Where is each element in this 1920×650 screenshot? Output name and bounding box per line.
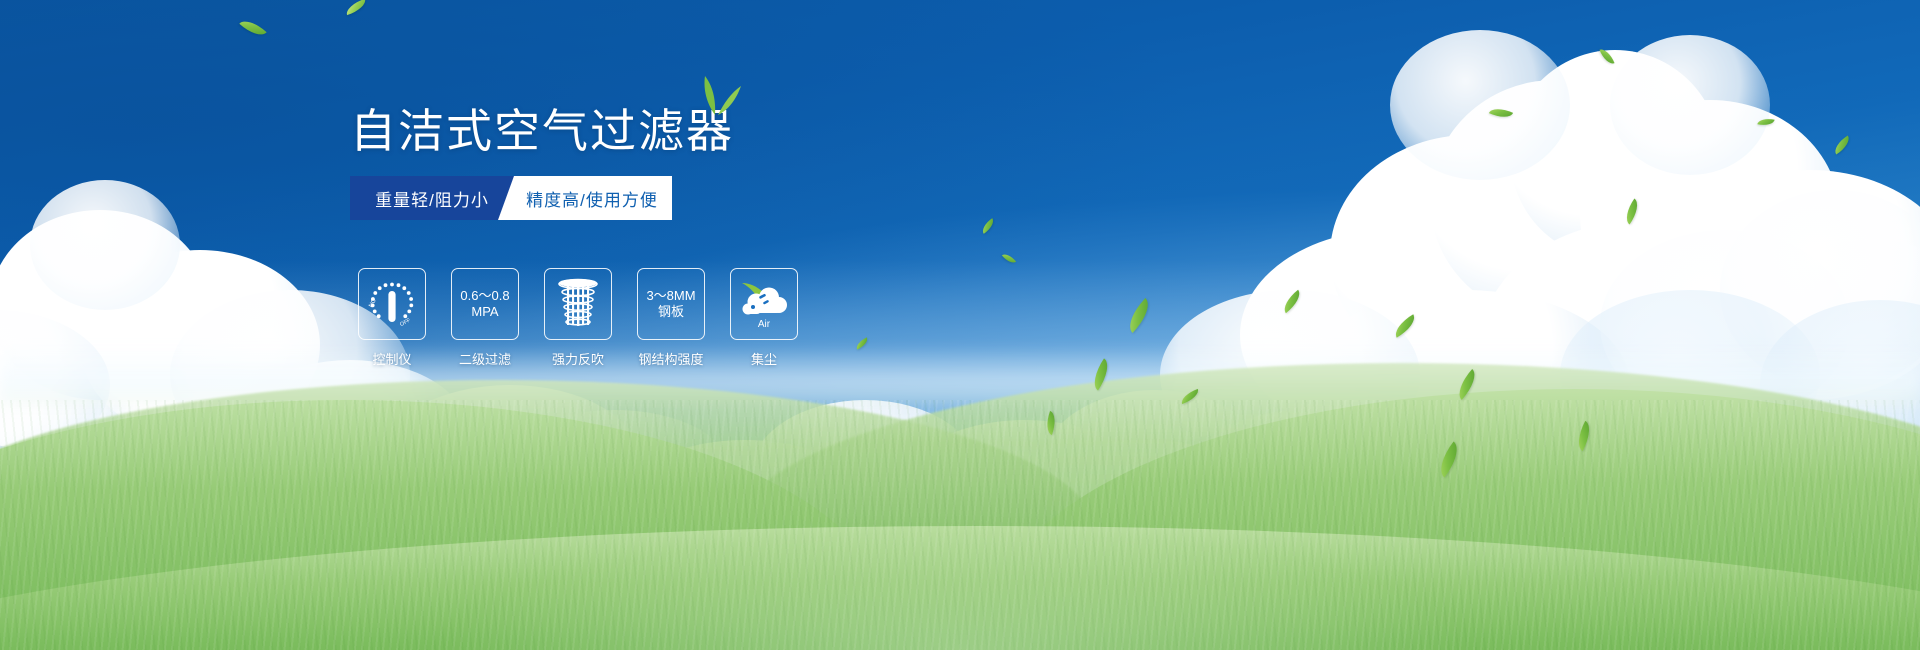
- feature-box: 0.6～0.8 MPA: [451, 268, 519, 340]
- steel-plate-text-icon: 3～8MM 钢板: [646, 288, 695, 320]
- pressure-value-line2: MPA: [460, 304, 509, 320]
- feature-box: NO OFF: [358, 268, 426, 340]
- feature-caption: 控制仪: [372, 349, 411, 368]
- feature-caption: 二级过滤: [459, 349, 511, 368]
- svg-text:NO: NO: [368, 298, 378, 309]
- steel-thickness-line1: 3～8MM: [646, 288, 695, 304]
- badge-label: 精度高/使用方便: [526, 186, 658, 211]
- feature-steel-strength: 3～8MM 钢板 钢结构强度 钢结构强度: [637, 268, 705, 368]
- grass-field: [0, 360, 1920, 650]
- pressure-text-icon: 0.6～0.8 MPA: [460, 288, 509, 320]
- gauge-icon: NO OFF: [367, 278, 417, 330]
- grass-highlight: [346, 480, 1575, 650]
- filter-coil-icon: [555, 277, 601, 331]
- dust-cloud-icon: Air: [738, 277, 790, 331]
- badge-label: 重量轻/阻力小: [375, 186, 489, 211]
- feature-caption: 强力反吹: [552, 349, 604, 368]
- feature-two-stage-filter: 0.6～0.8 MPA 二级过滤: [451, 268, 519, 368]
- banner-content: 自洁式空气过滤器 重量轻/阻力小 精度高/使用方便: [350, 108, 1110, 220]
- feature-controller: NO OFF 控制仪: [358, 268, 426, 368]
- feature-icon-row: NO OFF 控制仪 0.6～0.8 MPA 二级过滤: [358, 268, 798, 368]
- feature-box: [544, 268, 612, 340]
- badge-lightweight: 重量轻/阻力小: [350, 176, 522, 220]
- feature-caption: 集尘: [751, 349, 777, 368]
- feature-box: Air: [730, 268, 798, 340]
- pressure-value-line1: 0.6～0.8: [460, 288, 509, 304]
- svg-text:Air: Air: [758, 319, 771, 330]
- badge-precision: 精度高/使用方便: [498, 176, 672, 220]
- svg-text:OFF: OFF: [399, 317, 412, 328]
- feature-box: 3～8MM 钢板: [637, 268, 705, 340]
- feature-strong-blowback: 强力反吹: [544, 268, 612, 368]
- feature-badge-group: 重量轻/阻力小 精度高/使用方便: [350, 176, 672, 220]
- product-hero-banner: 自洁式空气过滤器 重量轻/阻力小 精度高/使用方便: [0, 0, 1920, 650]
- sprout-leaf-icon: [691, 74, 743, 116]
- steel-thickness-line2: 钢板: [646, 304, 695, 320]
- feature-caption: 钢结构强度: [638, 349, 703, 368]
- feature-dust-collection: Air 集尘: [730, 268, 798, 368]
